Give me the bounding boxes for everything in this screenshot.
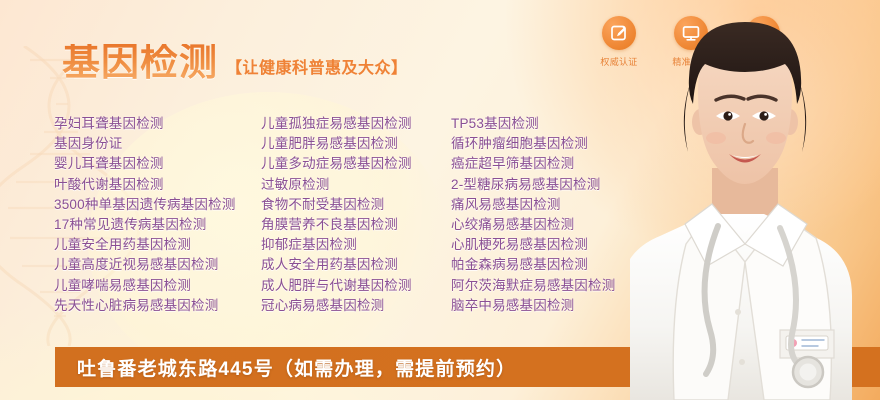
list-item[interactable]: 儿童肥胖易感基因检测 — [261, 134, 451, 154]
list-item[interactable]: 脑卒中易感基因检测 — [451, 296, 691, 316]
footer-address: 吐鲁番老城东路445号（如需办理，需提前预约） — [77, 347, 516, 387]
list-column-2: 儿童孤独症易感基因检测 儿童肥胖易感基因检测 儿童多动症易感基因检测 过敏原检测… — [261, 114, 451, 316]
badge-precise-typing[interactable]: 精准分型 — [666, 16, 716, 68]
list-item[interactable]: 17种常见遗传病基因检测 — [54, 215, 261, 235]
list-item[interactable]: 冠心病易感基因检测 — [261, 296, 451, 316]
list-item[interactable]: 循环肿瘤细胞基因检测 — [451, 134, 691, 154]
badge-label: 权威认证 — [600, 55, 637, 68]
list-item[interactable]: 叶酸代谢基因检测 — [54, 175, 261, 195]
list-item[interactable]: 基因身份证 — [54, 134, 261, 154]
list-item[interactable]: 儿童孤独症易感基因检测 — [261, 114, 451, 134]
document-icon — [746, 16, 780, 50]
header: 基因检测 【让健康科普惠及大众】 — [62, 44, 408, 82]
list-item[interactable]: 儿童多动症易感基因检测 — [261, 154, 451, 174]
list-item[interactable]: 婴儿耳聋基因检测 — [54, 154, 261, 174]
page-subtitle: 【让健康科普惠及大众】 — [226, 54, 408, 82]
list-column-1: 孕妇耳聋基因检测 基因身份证 婴儿耳聋基因检测 叶酸代谢基因检测 3500种单基… — [54, 114, 261, 316]
test-items-lists: 孕妇耳聋基因检测 基因身份证 婴儿耳聋基因检测 叶酸代谢基因检测 3500种单基… — [54, 114, 691, 316]
list-item[interactable]: 成人安全用药基因检测 — [261, 255, 451, 275]
footer-bar: 吐鲁番老城东路445号（如需办理，需提前预约） — [55, 347, 880, 387]
list-item[interactable]: 抑郁症基因检测 — [261, 235, 451, 255]
list-item[interactable]: 阿尔茨海默症易感基因检测 — [451, 276, 691, 296]
list-item[interactable]: 孕妇耳聋基因检测 — [54, 114, 261, 134]
list-item[interactable]: 角膜营养不良基因检测 — [261, 215, 451, 235]
badge-easy-self-check[interactable]: 轻松自检 — [738, 16, 788, 68]
list-item[interactable]: 食物不耐受基因检测 — [261, 195, 451, 215]
list-item[interactable]: 儿童哮喘易感基因检测 — [54, 276, 261, 296]
list-item[interactable]: 先天性心脏病易感基因检测 — [54, 296, 261, 316]
feature-badges: 权威认证 精准分型 轻松自检 — [594, 16, 788, 68]
list-item[interactable]: 癌症超早筛基因检测 — [451, 154, 691, 174]
list-item[interactable]: 儿童高度近视易感基因检测 — [54, 255, 261, 275]
list-item[interactable]: 儿童安全用药基因检测 — [54, 235, 261, 255]
list-item[interactable]: 心肌梗死易感基因检测 — [451, 235, 691, 255]
badge-authority-certification[interactable]: 权威认证 — [594, 16, 644, 68]
badge-label: 轻松自检 — [744, 55, 781, 68]
poster-canvas: 基因检测 【让健康科普惠及大众】 权威认证 精准分型 — [0, 0, 880, 400]
list-item[interactable]: 3500种单基因遗传病基因检测 — [54, 195, 261, 215]
badge-label: 精准分型 — [672, 55, 709, 68]
page-title: 基因检测 — [62, 44, 218, 82]
list-item[interactable]: 心绞痛易感基因检测 — [451, 215, 691, 235]
list-item[interactable]: TP53基因检测 — [451, 114, 691, 134]
list-item[interactable]: 帕金森病易感基因检测 — [451, 255, 691, 275]
list-item[interactable]: 痛风易感基因检测 — [451, 195, 691, 215]
list-item[interactable]: 2-型糖尿病易感基因检测 — [451, 175, 691, 195]
edit-pen-icon — [602, 16, 636, 50]
list-item[interactable]: 过敏原检测 — [261, 175, 451, 195]
list-item[interactable]: 成人肥胖与代谢基因检测 — [261, 276, 451, 296]
monitor-icon — [674, 16, 708, 50]
list-column-3: TP53基因检测 循环肿瘤细胞基因检测 癌症超早筛基因检测 2-型糖尿病易感基因… — [451, 114, 691, 316]
